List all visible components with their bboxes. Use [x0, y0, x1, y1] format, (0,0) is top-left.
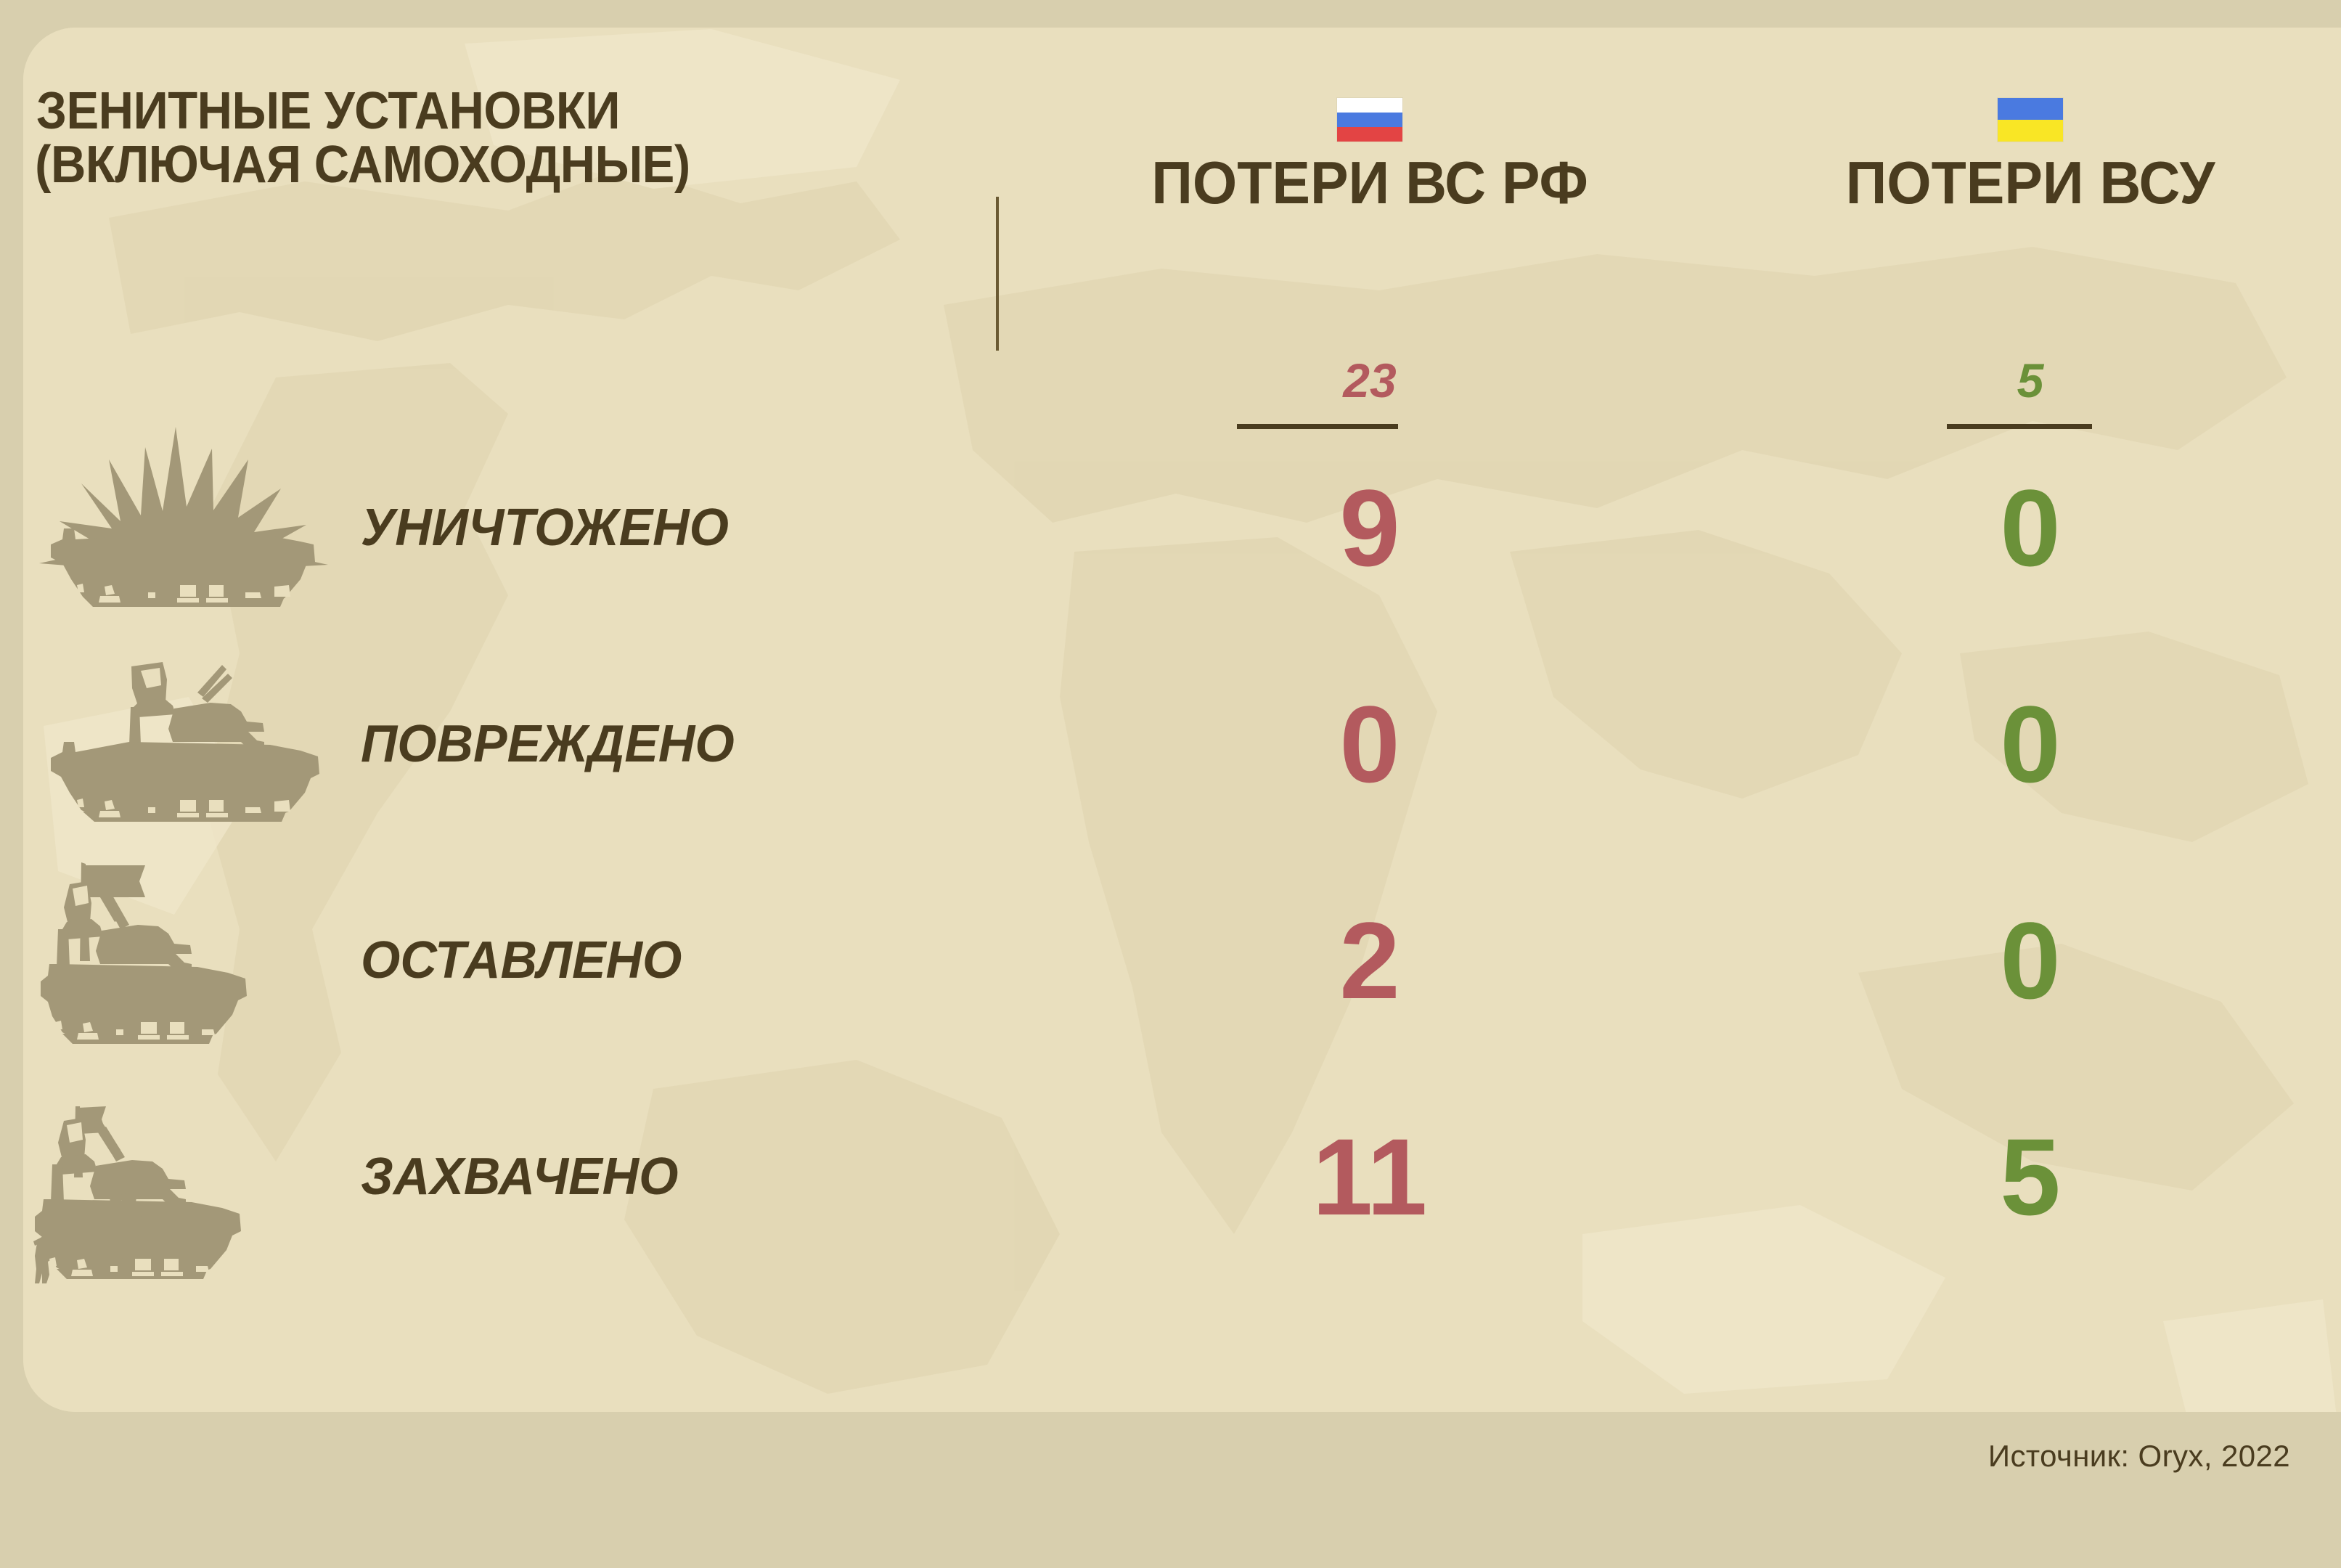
column-title-russia: ПОТЕРИ ВС РФ	[1008, 148, 1732, 218]
column-title-ukraine: ПОТЕРИ ВСУ	[1668, 148, 2341, 218]
row-value-russia: 0	[989, 690, 1751, 799]
total-ukraine: 5	[1649, 353, 2341, 408]
page-title: ЗЕНИТНЫЕ УСТАНОВКИ (ВКЛЮЧАЯ САМОХОДНЫЕ)	[36, 84, 907, 192]
row-value-ukraine: 0	[1649, 906, 2341, 1015]
source-attribution: Источник: Oryx, 2022	[1988, 1439, 2290, 1474]
row-value-russia: 9	[989, 473, 1751, 582]
row-value-russia: 2	[989, 906, 1751, 1015]
table-row: ПОВРЕЖДЕНО 0 0	[23, 636, 2341, 852]
row-label: ОСТАВЛЕНО	[361, 931, 682, 990]
destroyed-vehicle-explosion-icon	[30, 420, 335, 636]
row-value-ukraine: 5	[1649, 1122, 2341, 1231]
row-label: УНИЧТОЖЕНО	[361, 498, 729, 558]
captured-vehicle-soldiers-icon	[30, 1069, 335, 1285]
table-row: ЗАХВАЧЕНО 11 5	[23, 1069, 2341, 1285]
row-label: ЗАХВАЧЕНО	[361, 1147, 678, 1206]
row-label: ПОВРЕЖДЕНО	[361, 714, 735, 774]
row-value-ukraine: 0	[1649, 690, 2341, 799]
row-value-russia: 11	[989, 1122, 1751, 1231]
header-divider	[996, 197, 999, 351]
row-value-ukraine: 0	[1649, 473, 2341, 582]
abandoned-vehicle-flag-icon	[30, 852, 335, 1069]
title-line-2: (ВКЛЮЧАЯ САМОХОДНЫЕ)	[35, 138, 907, 192]
main-panel: ЗЕНИТНЫЕ УСТАНОВКИ (ВКЛЮЧАЯ САМОХОДНЫЕ) …	[23, 28, 2341, 1412]
ukraine-flag-icon	[1997, 97, 2064, 142]
title-line-1: ЗЕНИТНЫЕ УСТАНОВКИ	[36, 84, 907, 138]
damaged-aa-vehicle-icon	[30, 636, 335, 852]
column-header-ukraine: ПОТЕРИ ВСУ	[1649, 28, 2341, 142]
total-russia: 23	[989, 353, 1751, 408]
table-row: УНИЧТОЖЕНО 9 0	[23, 420, 2341, 636]
table-row: ОСТАВЛЕНО 2 0	[23, 852, 2341, 1069]
infographic-stage: ЗЕНИТНЫЕ УСТАНОВКИ (ВКЛЮЧАЯ САМОХОДНЫЕ) …	[0, 0, 2341, 1568]
russia-flag-icon	[1336, 97, 1403, 142]
column-header-russia: ПОТЕРИ ВС РФ	[989, 28, 1751, 142]
header: ЗЕНИТНЫЕ УСТАНОВКИ (ВКЛЮЧАЯ САМОХОДНЫЕ) …	[23, 28, 2341, 332]
